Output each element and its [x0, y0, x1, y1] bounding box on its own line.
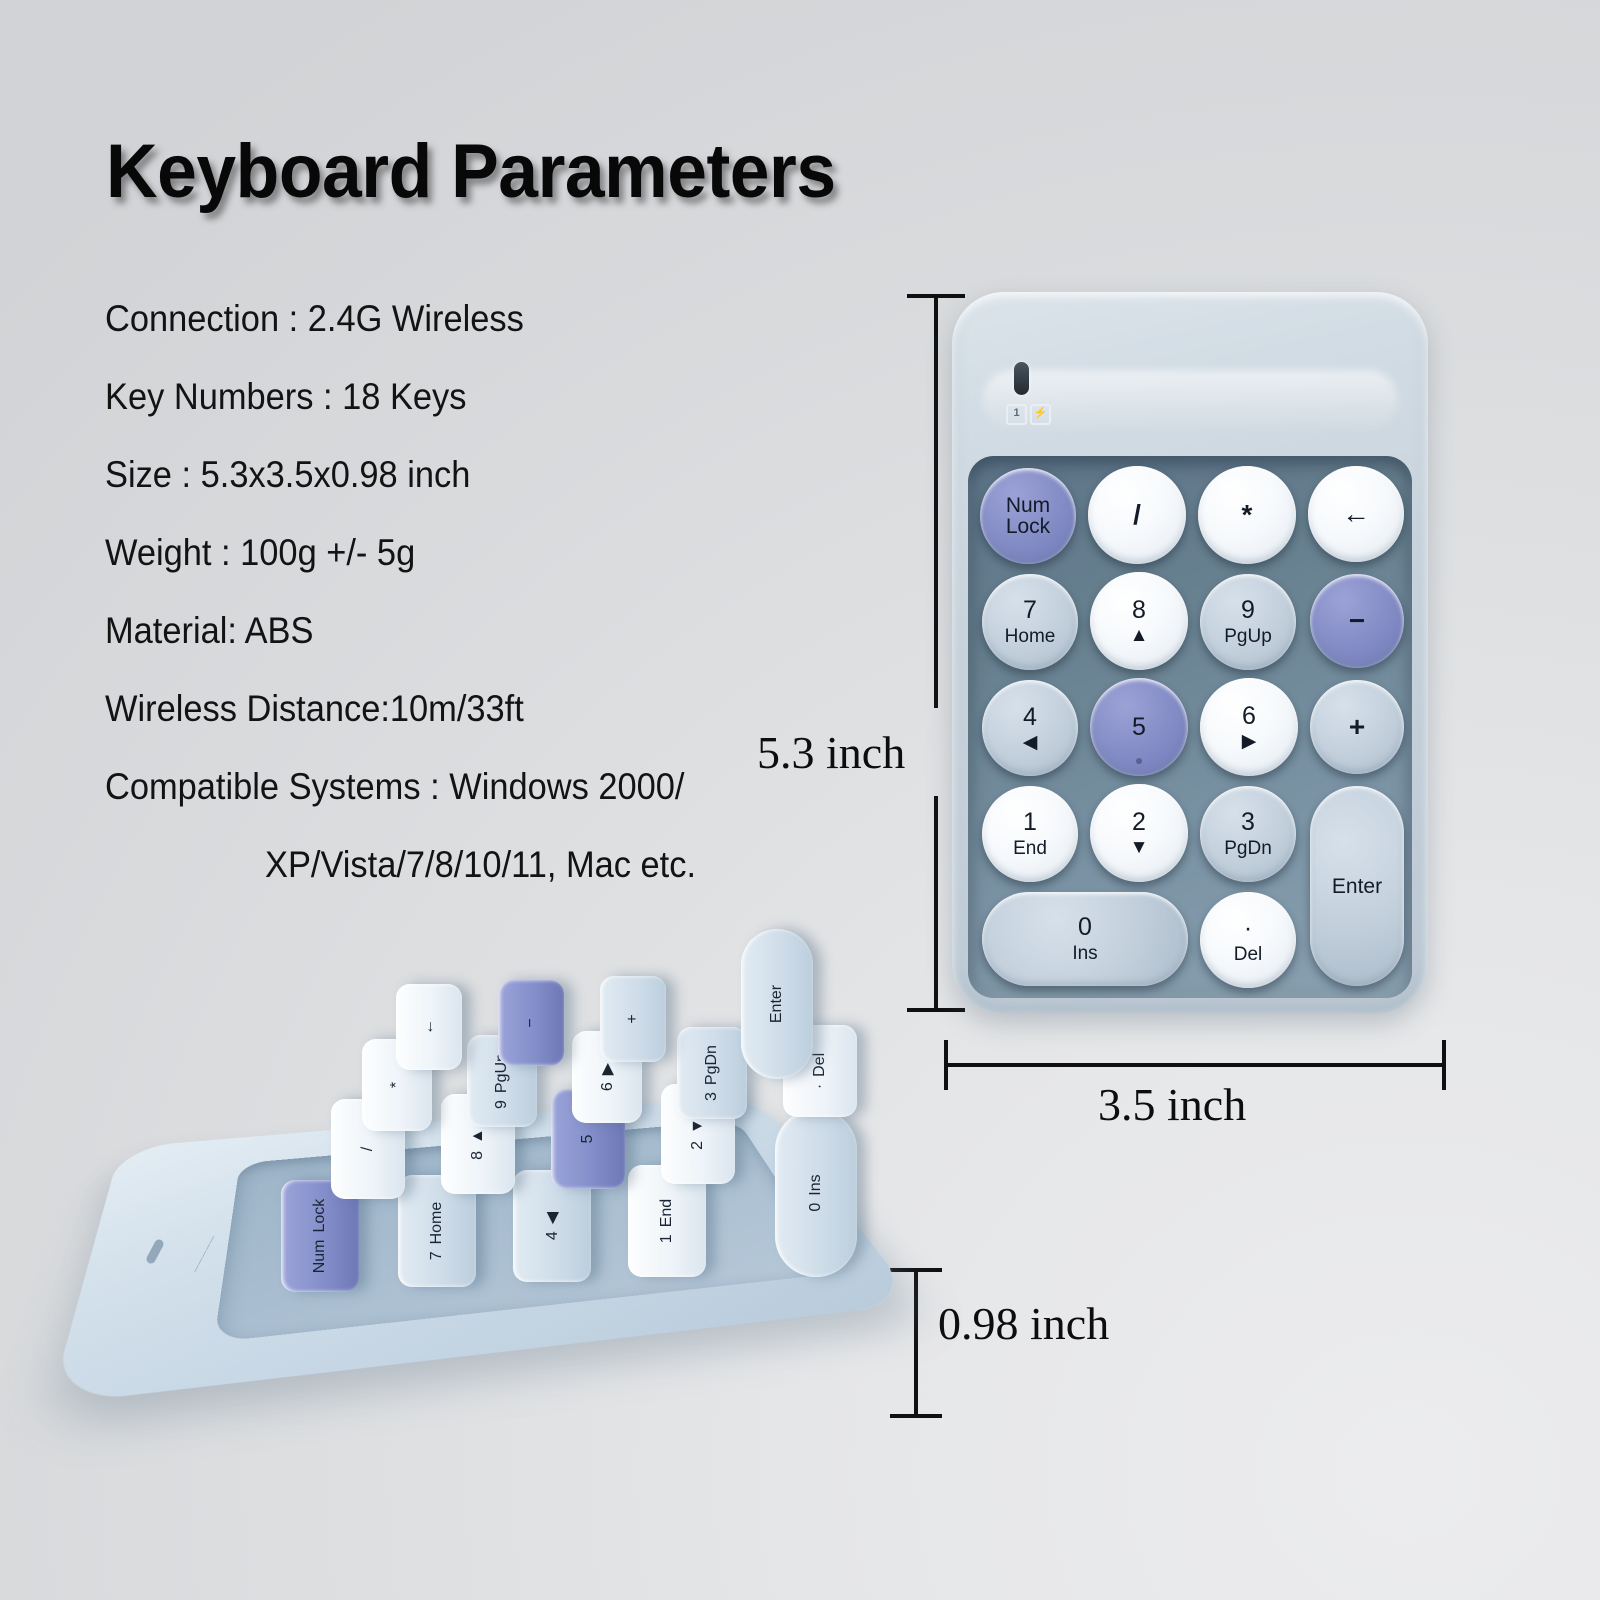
angled-key-minus[interactable]: − — [498, 980, 564, 1066]
key-3-pgdn[interactable]: 3 PgDn — [1200, 786, 1296, 882]
key-3-label: 3 — [1241, 810, 1255, 835]
key-multiply-label: * — [1242, 501, 1253, 529]
key-9-pgup[interactable]: 9 PgUp — [1200, 574, 1296, 670]
key-decimal-label: · — [1244, 916, 1252, 941]
angled-key-enter-main: Enter — [768, 985, 786, 1023]
spec-wireless-distance: Wireless Distance:10m/33ft — [105, 690, 868, 727]
led-indicator-icon — [1014, 362, 1029, 395]
dim-width-line — [946, 1063, 1444, 1067]
key-1-label: 1 — [1023, 810, 1037, 835]
arrow-up-icon: ▲ — [1130, 626, 1149, 645]
key-end-label: End — [1013, 839, 1047, 858]
angled-key-7-sub: Home — [428, 1202, 446, 1245]
arrow-down-icon: ▼ — [1130, 838, 1149, 857]
key-0-ins[interactable]: 0 Ins — [982, 892, 1188, 986]
angled-key-7-main: 7 — [428, 1251, 446, 1260]
key-1-end[interactable]: 1 End — [982, 786, 1078, 882]
numeric-keypad-top-view: 1 ⚡ Num Lock / * ← 7 Home 8 ▲ 9 PgUp — [952, 292, 1428, 1014]
key-7-label: 7 — [1023, 598, 1037, 623]
angled-key-enter[interactable]: Enter — [741, 929, 813, 1079]
key-4-label: 4 — [1023, 705, 1037, 730]
angled-key-8-sub: ▲ — [469, 1128, 487, 1144]
key-6-right[interactable]: 6 ▶ — [1200, 678, 1298, 776]
key-8-up[interactable]: 8 ▲ — [1090, 572, 1188, 670]
angled-key-4-main: 4 — [544, 1231, 562, 1240]
spec-weight: Weight : 100g +/- 5g — [105, 534, 868, 571]
spec-compatible-systems: Compatible Systems : Windows 2000/ — [105, 768, 868, 805]
key-divide-label: / — [1133, 501, 1141, 529]
dim-width-label: 3.5 inch — [1098, 1078, 1246, 1131]
angled-key-2-main: 2 — [689, 1141, 707, 1150]
angled-key-5-main: 5 — [579, 1135, 597, 1144]
spec-connection: Connection : 2.4G Wireless — [105, 300, 868, 337]
key-home-label: Home — [1005, 627, 1056, 646]
key-4-left[interactable]: 4 ◀ — [982, 680, 1078, 776]
key-backspace[interactable]: ← — [1308, 466, 1404, 562]
spec-key-numbers: Key Numbers : 18 Keys — [105, 378, 868, 415]
angled-key-1-sub: End — [658, 1199, 676, 1227]
key-multiply[interactable]: * — [1198, 466, 1296, 564]
key-backspace-arrow-icon: ← — [1342, 500, 1370, 528]
key-0-label: 0 — [1078, 915, 1092, 940]
specification-list: Connection : 2.4G Wireless Key Numbers :… — [105, 300, 925, 883]
angled-key-backspace-icon: ← — [420, 1019, 438, 1035]
page-title: Keyboard Parameters — [106, 128, 836, 215]
angled-key-4-sub: ◀ — [542, 1212, 562, 1224]
angled-key-1-main: 1 — [658, 1234, 676, 1243]
key-5-label: 5 — [1132, 715, 1146, 740]
key-numlock-label-sub: Lock — [1006, 516, 1050, 537]
dim-height-line-upper — [934, 296, 938, 708]
angled-key-plus[interactable]: + — [600, 976, 666, 1062]
key-7-home[interactable]: 7 Home — [982, 574, 1078, 670]
dim-width-cap-right — [1442, 1040, 1446, 1090]
numeric-keypad-angled-view: NumLock 7Home 4◀ 1End 0Ins / 8▲ 5 2▼ * 9… — [96, 1002, 876, 1422]
angled-key-6-main: 6 — [599, 1082, 617, 1091]
dim-height-label: 5.3 inch — [757, 726, 905, 779]
arrow-left-icon: ◀ — [1023, 733, 1038, 752]
key-plus[interactable]: + — [1310, 680, 1404, 774]
dim-depth-cap-bottom — [890, 1414, 942, 1418]
dim-height-line-lower — [934, 796, 938, 1010]
angled-key-0-main: 0 — [807, 1203, 825, 1212]
key-2-label: 2 — [1132, 810, 1146, 835]
angled-key-multiply-main: * — [388, 1082, 406, 1088]
dim-height-cap-bottom — [907, 1008, 965, 1012]
arrow-right-icon: ▶ — [1242, 732, 1257, 751]
angled-key-6-sub: ▶ — [597, 1063, 617, 1075]
angled-key-0[interactable]: 0Ins — [775, 1109, 857, 1277]
angled-key-minus-main: − — [522, 1018, 540, 1027]
key-plus-label: + — [1349, 713, 1365, 741]
key-numlock-label-main: Num — [1006, 495, 1050, 516]
key-9-label: 9 — [1241, 598, 1255, 623]
angled-key-plus-main: + — [624, 1014, 642, 1023]
key-2-down[interactable]: 2 ▼ — [1090, 784, 1188, 882]
angled-key-numlock-main: Num — [311, 1240, 329, 1274]
angled-key-numlock-sub: Lock — [311, 1199, 329, 1233]
key-minus-label: − — [1349, 607, 1365, 635]
key-ins-label: Ins — [1072, 944, 1097, 963]
homing-dot-icon — [1136, 758, 1142, 764]
key-well: Num Lock / * ← 7 Home 8 ▲ 9 PgUp − 4 — [968, 456, 1412, 998]
numlock-badge-icon: 1 — [1006, 404, 1027, 425]
key-enter-label: Enter — [1332, 876, 1382, 897]
angled-key-9-main: 9 — [493, 1100, 511, 1109]
dim-depth-line — [914, 1270, 918, 1416]
angled-key-decimal-sub: Del — [811, 1053, 829, 1077]
angled-key-2-sub: ▼ — [689, 1118, 707, 1134]
angled-key-backspace[interactable]: ← — [396, 984, 462, 1070]
spec-material: Material: ABS — [105, 612, 868, 649]
angled-key-0-sub: Ins — [807, 1174, 825, 1195]
key-6-label: 6 — [1242, 704, 1256, 729]
key-5[interactable]: 5 — [1090, 678, 1188, 776]
dim-depth-label: 0.98 inch — [938, 1297, 1109, 1350]
key-divide[interactable]: / — [1088, 466, 1186, 564]
angled-key-divide-main: / — [359, 1147, 377, 1151]
key-minus[interactable]: − — [1310, 574, 1404, 668]
key-decimal-del[interactable]: · Del — [1200, 892, 1296, 988]
key-8-label: 8 — [1132, 598, 1146, 623]
key-pgdn-label: PgDn — [1224, 839, 1272, 858]
spec-compatible-systems-cont: XP/Vista/7/8/10/11, Mac etc. — [265, 846, 879, 883]
key-del-label: Del — [1234, 945, 1263, 964]
key-enter[interactable]: Enter — [1310, 786, 1404, 986]
angled-key-3[interactable]: 3PgDn — [677, 1027, 747, 1119]
angled-key-3-sub: PgDn — [703, 1045, 721, 1085]
key-numlock[interactable]: Num Lock — [980, 468, 1076, 564]
key-pgup-label: PgUp — [1224, 627, 1272, 646]
angled-key-3-main: 3 — [703, 1092, 721, 1101]
spec-size: Size : 5.3x3.5x0.98 inch — [105, 456, 868, 493]
charging-bolt-icon: ⚡ — [1030, 404, 1051, 425]
angled-key-8-main: 8 — [469, 1151, 487, 1160]
angled-key-decimal-main: · — [811, 1084, 829, 1089]
